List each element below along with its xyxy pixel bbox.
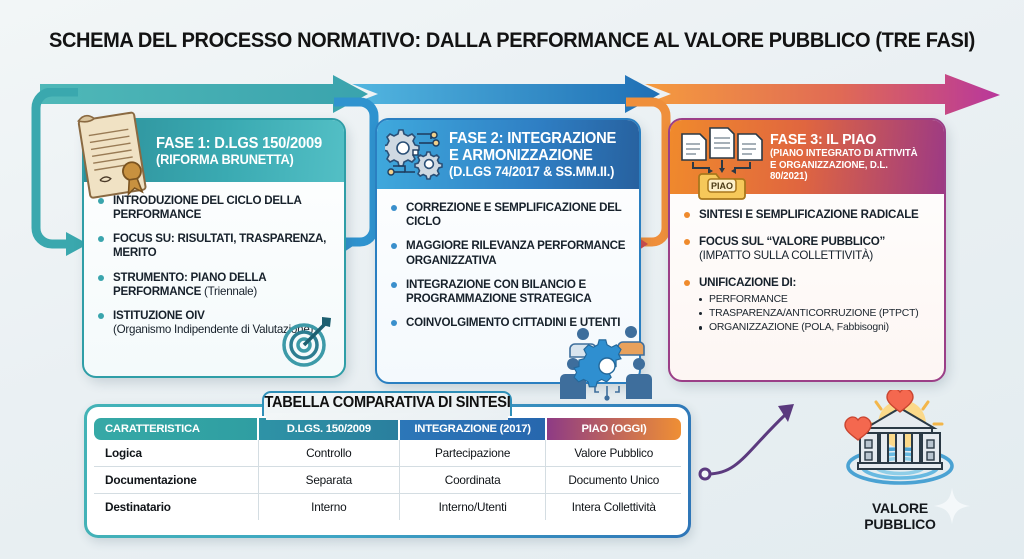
phase-card-fase-1[interactable]: FASE 1: D.LGS 150/2009 (RIFORMA BRUNETTA… [82,118,346,378]
table-title: TABELLA COMPARATIVA DI SINTESI [102,394,673,412]
table-cell: Partecipazione [399,440,546,467]
gears-circuit-icon [385,126,447,182]
table-cell: Documentazione [94,467,258,494]
table-header-cell: D.LGS. 150/2009 [258,418,399,440]
list-item: MAGGIORE RILEVANZA PERFORMANCE ORGANIZZA… [389,239,629,267]
phase-title: FASE 2: INTEGRAZIONE E ARMONIZZAZIONE [449,130,618,164]
phase-title: FASE 1: D.LGS 150/2009 [156,135,323,152]
table-cell: Logica [94,440,258,467]
table-row: Destinatario Interno Interno/Utenti Inte… [94,494,681,521]
phase-card-fase-3[interactable]: FASE 3: IL PIAO (PIANO INTEGRATO DI ATTI… [668,118,946,382]
list-item: TRASPARENZA/ANTICORRUZIONE (PTPCT) [699,307,934,321]
table-header-cell: PIAO (OGGI) [546,418,681,440]
list-item: INTEGRAZIONE CON BILANCIO E PROGRAMMAZIO… [389,278,629,306]
table-header-cell: INTEGRAZIONE (2017) [399,418,546,440]
phase-title: FASE 3: IL PIAO [770,132,924,149]
table-row: Documentazione Separata Coordinata Docum… [94,467,681,494]
list-item: UNIFICAZIONE DI: PERFORMANCE TRASPARENZA… [682,276,934,335]
page-title: SCHEMA DEL PROCESSO NORMATIVO: DALLA PER… [36,28,988,53]
scroll-document-icon [70,102,156,206]
list-item: SINTESI E SEMPLIFICAZIONE RADICALE [682,208,934,222]
table-cell: Interno/Utenti [399,494,546,521]
target-dart-icon [278,314,336,370]
phase-subtitle: (D.LGS 74/2017 & SS.MM.II.) [449,164,618,179]
comparison-table: CARATTERISTICA D.LGS. 150/2009 INTEGRAZI… [94,418,681,520]
comparison-table-container: TABELLA COMPARATIVA DI SINTESI CARATTERI… [84,404,691,538]
table-cell: Intera Collettività [546,494,681,521]
list-item: PERFORMANCE [699,293,934,307]
phase-card-fase-2[interactable]: FASE 2: INTEGRAZIONE E ARMONIZZAZIONE (D… [375,118,641,384]
documents-to-folder-piao-icon: PIAO [676,124,768,200]
list-item: STRUMENTO: PIANO DELLA PERFORMANCE (Trie… [96,271,334,299]
table-header-row: CARATTERISTICA D.LGS. 150/2009 INTEGRAZI… [94,418,681,440]
phase-bullet-list: CORREZIONE E SEMPLIFICAZIONE DEL CICLO M… [389,201,629,330]
table-cell: Controllo [258,440,399,467]
table-header-cell: CARATTERISTICA [94,418,258,440]
phase3-sub-list: PERFORMANCE TRASPARENZA/ANTICORRUZIONE (… [699,293,934,336]
list-item: CORREZIONE E SEMPLIFICAZIONE DEL CICLO [389,201,629,229]
sparkle-icon [932,486,972,526]
phase-subtitle: (RIFORMA BRUNETTA) [156,152,323,167]
phase-bullet-list: SINTESI E SEMPLIFICAZIONE RADICALE FOCUS… [682,208,934,336]
table-to-valore-arrow [694,396,814,492]
table-cell: Valore Pubblico [546,440,681,467]
table-cell: Interno [258,494,399,521]
table-cell: Destinatario [94,494,258,521]
piao-folder-label: PIAO [711,181,733,191]
list-item: ORGANIZZAZIONE (POLA, Fabbisogni) [699,321,934,335]
table-cell: Coordinata [399,467,546,494]
phase-subtitle: (PIANO INTEGRATO DI ATTIVITÀ E ORGANIZZA… [770,148,924,182]
table-row: Logica Controllo Partecipazione Valore P… [94,440,681,467]
table-cell: Documento Unico [546,467,681,494]
list-item: FOCUS SU: RISULTATI, TRASPARENZA, MERITO [96,232,334,260]
list-item: FOCUS SUL “VALORE PUBBLICO”(IMPATTO SULL… [682,235,934,263]
table-cell: Separata [258,467,399,494]
people-gear-teamwork-icon [559,318,655,402]
valore-pubblico-block: VALOREPUBBLICO [820,398,980,548]
